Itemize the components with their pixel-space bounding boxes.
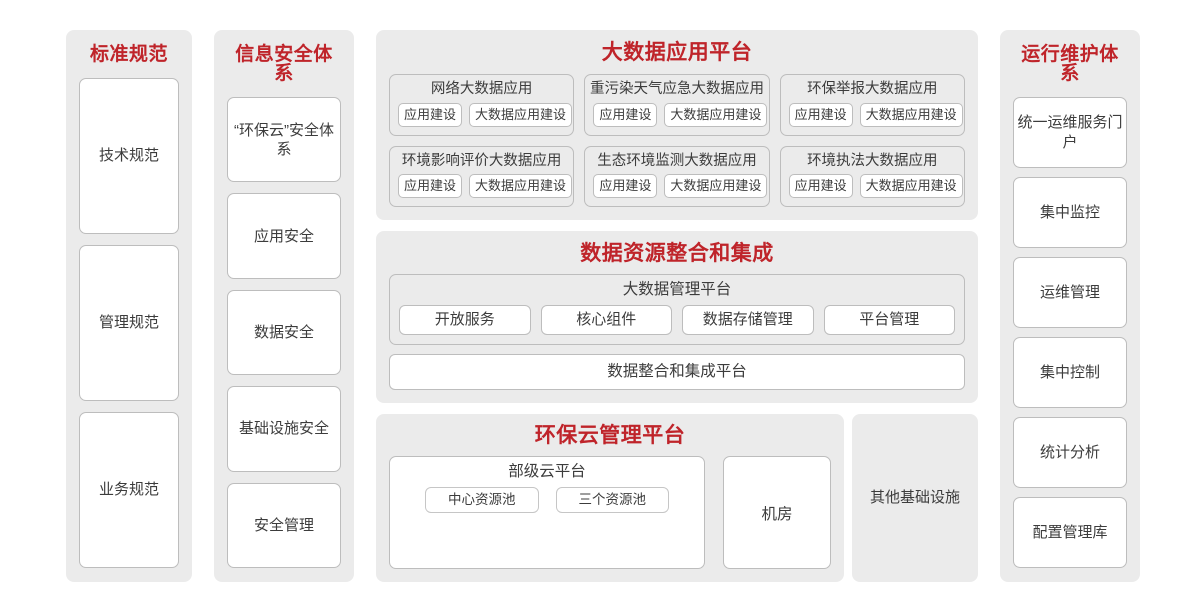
bigdata-management-platform-title: 大数据管理平台 bbox=[623, 282, 732, 298]
app-card-title: 环保举报大数据应用 bbox=[807, 82, 938, 97]
chip-bigdata-application-construction[interactable]: 大数据应用建设 bbox=[664, 103, 767, 127]
other-infrastructure-card[interactable]: 其他基础设施 bbox=[852, 414, 978, 582]
app-chip-row: 应用建设 大数据应用建设 bbox=[789, 174, 956, 198]
app-chip-row: 应用建设 大数据应用建设 bbox=[593, 174, 760, 198]
pool-three-resource[interactable]: 三个资源池 bbox=[556, 487, 670, 514]
chip-application-construction[interactable]: 应用建设 bbox=[789, 174, 853, 198]
machine-room-card[interactable]: 机房 bbox=[723, 456, 831, 569]
pool-center-resource[interactable]: 中心资源池 bbox=[425, 487, 539, 514]
app-card-title: 生态环境监测大数据应用 bbox=[597, 154, 757, 169]
chip-application-construction[interactable]: 应用建设 bbox=[593, 103, 657, 127]
app-card-title: 网络大数据应用 bbox=[431, 82, 533, 97]
bottom-row: 环保云管理平台 部级云平台 中心资源池 三个资源池 机房 其他基础设施 bbox=[376, 414, 978, 582]
panel-cloud-management-platform: 环保云管理平台 部级云平台 中心资源池 三个资源池 机房 bbox=[376, 414, 844, 582]
standards-card-business[interactable]: 业务规范 bbox=[79, 412, 179, 568]
standards-card-technical[interactable]: 技术规范 bbox=[79, 78, 179, 234]
chip-bigdata-application-construction[interactable]: 大数据应用建设 bbox=[860, 103, 963, 127]
dept-cloud-box[interactable]: 部级云平台 中心资源池 三个资源池 bbox=[389, 456, 705, 569]
app-chip-row: 应用建设 大数据应用建设 bbox=[398, 174, 565, 198]
panel-bigdata-application-platform: 大数据应用平台 网络大数据应用 应用建设 大数据应用建设 重污染天气应急大数据应… bbox=[376, 30, 978, 220]
bigdata-app-platform-title: 大数据应用平台 bbox=[389, 42, 965, 63]
chip-application-construction[interactable]: 应用建设 bbox=[593, 174, 657, 198]
security-card-infrastructure-security[interactable]: 基础设施安全 bbox=[227, 386, 341, 471]
app-chip-row: 应用建设 大数据应用建设 bbox=[398, 103, 565, 127]
chip-application-construction[interactable]: 应用建设 bbox=[398, 174, 462, 198]
ops-card-operations-management[interactable]: 运维管理 bbox=[1013, 257, 1127, 328]
panel-data-resource-integration: 数据资源整合和集成 大数据管理平台 开放服务 核心组件 数据存储管理 平台管理 … bbox=[376, 231, 978, 403]
app-card-heavy-pollution-weather-emergency-bigdata[interactable]: 重污染天气应急大数据应用 应用建设 大数据应用建设 bbox=[584, 74, 769, 136]
column-standards: 标准规范 技术规范 管理规范 业务规范 bbox=[66, 30, 192, 582]
cloud-platform-title: 环保云管理平台 bbox=[389, 425, 831, 446]
column-operations-stack: 统一运维服务门户 集中监控 运维管理 集中控制 统计分析 配置管理库 bbox=[1013, 97, 1127, 568]
app-chip-row: 应用建设 大数据应用建设 bbox=[789, 103, 956, 127]
column-information-security: 信息安全体系 “环保云”安全体系 应用安全 数据安全 基础设施安全 安全管理 bbox=[214, 30, 354, 582]
app-card-title: 环境影响评价大数据应用 bbox=[402, 154, 562, 169]
app-card-environmental-impact-assessment-bigdata[interactable]: 环境影响评价大数据应用 应用建设 大数据应用建设 bbox=[389, 146, 574, 208]
pill-platform-management[interactable]: 平台管理 bbox=[824, 305, 956, 335]
bigdata-app-row-2: 环境影响评价大数据应用 应用建设 大数据应用建设 生态环境监测大数据应用 应用建… bbox=[389, 146, 965, 208]
app-card-environmental-report-bigdata[interactable]: 环保举报大数据应用 应用建设 大数据应用建设 bbox=[780, 74, 965, 136]
security-card-cloud-security-system[interactable]: “环保云”安全体系 bbox=[227, 97, 341, 182]
app-card-title: 环境执法大数据应用 bbox=[807, 154, 938, 169]
column-standards-stack: 技术规范 管理规范 业务规范 bbox=[79, 78, 179, 568]
column-operations-title: 运行维护体系 bbox=[1013, 45, 1127, 83]
ops-card-centralized-monitoring[interactable]: 集中监控 bbox=[1013, 177, 1127, 248]
ops-card-unified-service-portal[interactable]: 统一运维服务门户 bbox=[1013, 97, 1127, 168]
column-security-stack: “环保云”安全体系 应用安全 数据安全 基础设施安全 安全管理 bbox=[227, 97, 341, 568]
data-resource-title: 数据资源整合和集成 bbox=[389, 243, 965, 264]
app-card-network-bigdata[interactable]: 网络大数据应用 应用建设 大数据应用建设 bbox=[389, 74, 574, 136]
column-security-title: 信息安全体系 bbox=[227, 45, 341, 83]
management-platform-pill-row: 开放服务 核心组件 数据存储管理 平台管理 bbox=[399, 305, 955, 335]
app-card-environmental-enforcement-bigdata[interactable]: 环境执法大数据应用 应用建设 大数据应用建设 bbox=[780, 146, 965, 208]
center-stack: 大数据应用平台 网络大数据应用 应用建设 大数据应用建设 重污染天气应急大数据应… bbox=[376, 30, 978, 582]
chip-bigdata-application-construction[interactable]: 大数据应用建设 bbox=[469, 103, 572, 127]
app-card-ecological-environment-monitoring-bigdata[interactable]: 生态环境监测大数据应用 应用建设 大数据应用建设 bbox=[584, 146, 769, 208]
app-card-title: 重污染天气应急大数据应用 bbox=[590, 82, 764, 97]
pill-open-services[interactable]: 开放服务 bbox=[399, 305, 531, 335]
ops-card-centralized-control[interactable]: 集中控制 bbox=[1013, 337, 1127, 408]
pill-core-components[interactable]: 核心组件 bbox=[541, 305, 673, 335]
bigdata-app-row-1: 网络大数据应用 应用建设 大数据应用建设 重污染天气应急大数据应用 应用建设 大… bbox=[389, 74, 965, 136]
bigdata-app-grid: 网络大数据应用 应用建设 大数据应用建设 重污染天气应急大数据应用 应用建设 大… bbox=[389, 74, 965, 207]
bigdata-management-platform-box[interactable]: 大数据管理平台 开放服务 核心组件 数据存储管理 平台管理 bbox=[389, 274, 965, 345]
security-card-application-security[interactable]: 应用安全 bbox=[227, 193, 341, 278]
chip-application-construction[interactable]: 应用建设 bbox=[398, 103, 462, 127]
column-standards-title: 标准规范 bbox=[79, 45, 179, 64]
pill-data-storage-management[interactable]: 数据存储管理 bbox=[682, 305, 814, 335]
column-operations-maintenance: 运行维护体系 统一运维服务门户 集中监控 运维管理 集中控制 统计分析 配置管理… bbox=[1000, 30, 1140, 582]
security-card-security-management[interactable]: 安全管理 bbox=[227, 483, 341, 568]
chip-bigdata-application-construction[interactable]: 大数据应用建设 bbox=[664, 174, 767, 198]
security-card-data-security[interactable]: 数据安全 bbox=[227, 290, 341, 375]
ops-card-configuration-management-db[interactable]: 配置管理库 bbox=[1013, 497, 1127, 568]
cloud-platform-body: 部级云平台 中心资源池 三个资源池 机房 bbox=[389, 456, 831, 569]
resource-pool-row: 中心资源池 三个资源池 bbox=[400, 487, 694, 514]
dept-cloud-title: 部级云平台 bbox=[508, 464, 586, 480]
chip-application-construction[interactable]: 应用建设 bbox=[789, 103, 853, 127]
ops-card-statistical-analysis[interactable]: 统计分析 bbox=[1013, 417, 1127, 488]
app-chip-row: 应用建设 大数据应用建设 bbox=[593, 103, 760, 127]
standards-card-management[interactable]: 管理规范 bbox=[79, 245, 179, 401]
chip-bigdata-application-construction[interactable]: 大数据应用建设 bbox=[860, 174, 963, 198]
chip-bigdata-application-construction[interactable]: 大数据应用建设 bbox=[469, 174, 572, 198]
data-integration-platform-bar[interactable]: 数据整合和集成平台 bbox=[389, 354, 965, 391]
architecture-diagram: 标准规范 技术规范 管理规范 业务规范 信息安全体系 “环保云”安全体系 应用安… bbox=[66, 30, 1140, 582]
